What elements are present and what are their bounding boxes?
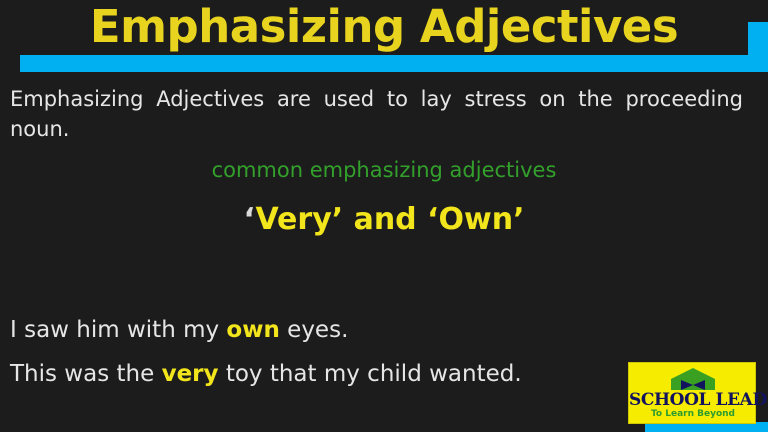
example-text-before: This was the [10, 361, 162, 387]
page-title: Emphasizing Adjectives [0, 2, 768, 52]
logo-name: SCHOOL LEAD [629, 391, 757, 410]
example-text-after: toy that my child wanted. [219, 361, 522, 387]
intro-paragraph: Emphasizing Adjectives are used to lay s… [10, 84, 743, 144]
example-highlight: very [162, 361, 219, 387]
slide: Emphasizing Adjectives Emphasizing Adjec… [0, 0, 768, 432]
keywords-text: Very’ and ‘Own’ [255, 202, 524, 237]
example-sentence: I saw him with my own eyes. [10, 308, 650, 352]
graduation-cap-icon [629, 366, 757, 392]
example-text-before: I saw him with my [10, 317, 226, 343]
brand-logo: SCHOOL LEAD To Learn Beyond [628, 362, 756, 424]
example-highlight: own [226, 317, 279, 343]
examples-list: I saw him with my own eyes. This was the… [10, 308, 650, 396]
subtitle-label: common emphasizing adjectives [0, 156, 768, 184]
logo-tagline: To Learn Beyond [629, 409, 757, 420]
example-text-after: eyes. [280, 317, 349, 343]
title-block: Emphasizing Adjectives [0, 0, 768, 78]
keywords-heading: ‘Very’ and ‘Own’ [0, 200, 768, 240]
accent-bar-horizontal [20, 55, 748, 72]
example-sentence: This was the very toy that my child want… [10, 352, 650, 396]
keywords-lead-quote: ‘ [244, 202, 256, 237]
accent-bar-vertical [748, 22, 768, 72]
